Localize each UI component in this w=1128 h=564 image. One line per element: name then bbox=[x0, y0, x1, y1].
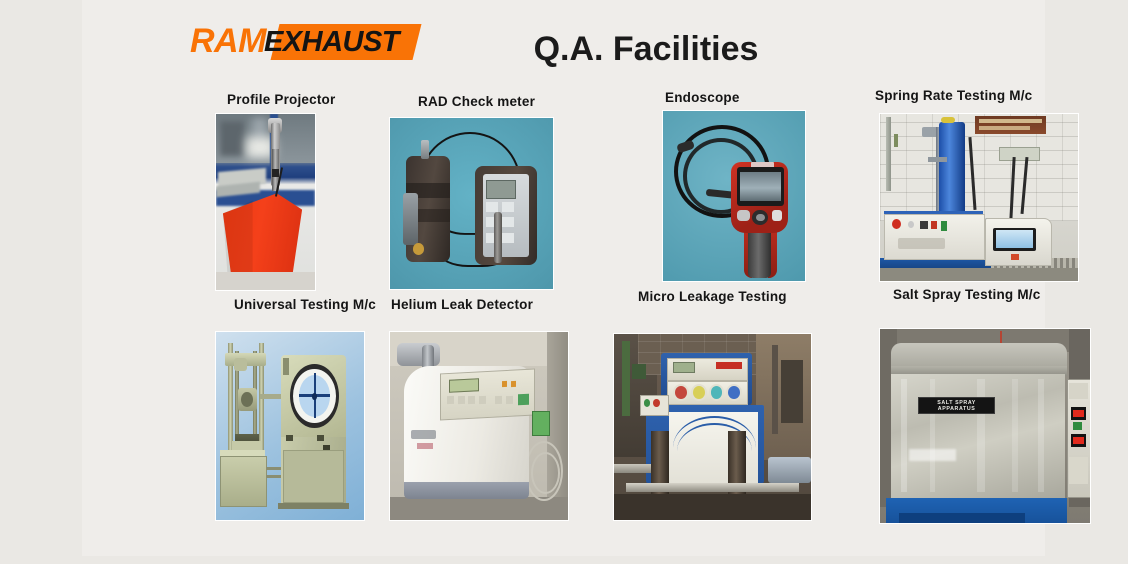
caption-endoscope: Endoscope bbox=[665, 90, 740, 105]
salt-spray-apparatus-label: SALT SPRAY APPARATUS bbox=[918, 397, 996, 415]
slide-background: RAMEXHAUST Q.A. Facilities Profile Proje… bbox=[0, 0, 1128, 564]
photo-rad-check-meter bbox=[389, 117, 554, 290]
caption-spring-rate-testing: Spring Rate Testing M/c bbox=[875, 88, 1032, 103]
caption-rad-check-meter: RAD Check meter bbox=[418, 94, 535, 109]
photo-helium-leak-detector bbox=[389, 331, 569, 521]
photo-universal-testing bbox=[215, 331, 365, 521]
photo-salt-spray-testing: SALT SPRAY APPARATUS bbox=[879, 328, 1091, 524]
caption-universal-testing: Universal Testing M/c bbox=[234, 297, 376, 312]
caption-helium-leak-detector: Helium Leak Detector bbox=[391, 297, 533, 312]
photo-endoscope bbox=[662, 110, 806, 282]
page-title: Q.A. Facilities bbox=[82, 30, 1128, 69]
slide-content-panel: RAMEXHAUST Q.A. Facilities Profile Proje… bbox=[82, 0, 1045, 556]
photo-micro-leakage-testing bbox=[613, 333, 812, 521]
caption-profile-projector: Profile Projector bbox=[227, 92, 335, 107]
photo-profile-projector bbox=[215, 113, 316, 291]
caption-salt-spray-testing: Salt Spray Testing M/c bbox=[893, 287, 1040, 302]
caption-micro-leakage-testing: Micro Leakage Testing bbox=[638, 289, 787, 304]
photo-spring-rate-testing bbox=[879, 113, 1079, 282]
